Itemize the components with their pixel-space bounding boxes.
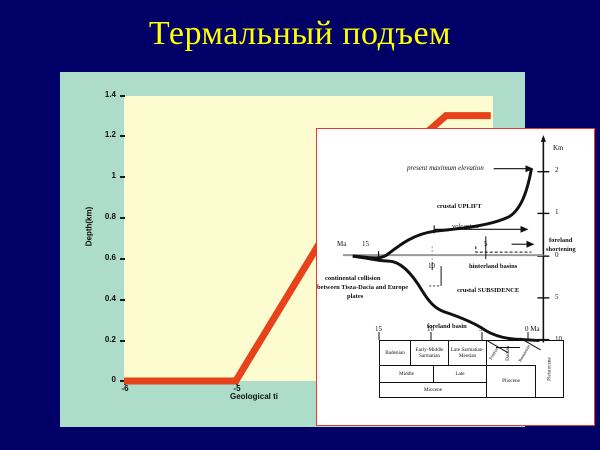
label-foreland-shortening-line1: foreland <box>549 237 572 245</box>
y-tick-label: 1.2 <box>86 131 116 139</box>
stratigraphic-table: Badenian Early-Middle Sarmatian Late Sar… <box>379 340 564 398</box>
strat-cell-miocene: Miocene <box>380 382 487 397</box>
ma-tick-10: 10 <box>428 263 435 270</box>
x-axis-title: Geological ti <box>230 392 278 401</box>
km-tick-2: 2 <box>555 167 559 174</box>
label-volcanism: volcanism <box>452 223 479 231</box>
strat-cell-middle: Middle <box>380 365 434 382</box>
y-tick-label: 1.4 <box>86 91 116 99</box>
y-tick-label: 0.2 <box>86 336 116 344</box>
label-foreland-shortening-line2: shortening <box>546 246 576 254</box>
y-tick-label: 1 <box>86 172 116 180</box>
strat-cell-badenian: Badenian <box>380 341 411 365</box>
page-title: Термальный подъем <box>0 14 600 54</box>
ma-tick-15: 15 <box>362 241 369 248</box>
label-collision-line1: continental collision <box>325 275 380 283</box>
label-collision-line2: between Tisza-Dacia and Europe <box>317 284 408 292</box>
strat-cell-early-middle-sarmatian: Early-Middle Sarmatian <box>411 341 449 365</box>
inset-figure: present maximum elevation crustal UPLIFT… <box>316 128 595 426</box>
km-tick-1: 1 <box>555 209 559 216</box>
ma-tick-5: 5 <box>484 241 488 248</box>
label-crustal-subsidence: crustal SUBSIDENCE <box>457 287 519 295</box>
label-hinterland-basins: hinterland basins <box>469 263 517 271</box>
strat-cell-pliocene: Pliocene <box>487 365 536 397</box>
ma-axis-label: Ma <box>337 241 346 248</box>
km-tick-0: 0 <box>555 252 559 259</box>
km-axis-unit: Km <box>553 145 564 152</box>
y-tick-label: 0 <box>86 376 116 384</box>
label-collision-line3: plates <box>347 293 363 301</box>
y-axis-title: Depth(km) <box>85 192 94 262</box>
strat-cell-late: Late <box>434 365 487 382</box>
label-crustal-uplift: crustal UPLIFT <box>437 203 482 211</box>
y-tick-label: 0.4 <box>86 295 116 303</box>
x-tick-label: -6 <box>113 385 137 393</box>
km-tick-5: 5 <box>555 294 559 301</box>
label-present-maximum-elevation: present maximum elevation <box>407 165 484 173</box>
